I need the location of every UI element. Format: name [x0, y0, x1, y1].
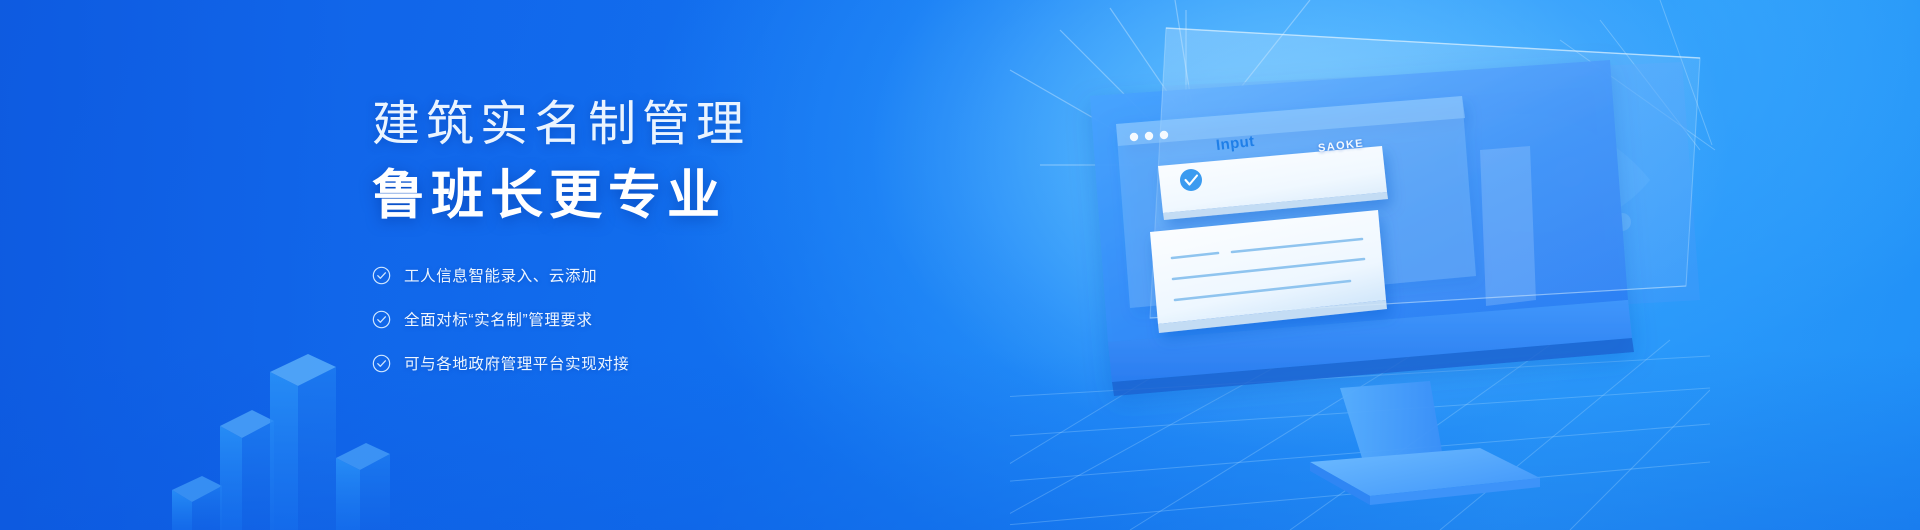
blob-decoration: [1458, 114, 1651, 233]
bottom-shadow-overlay: [0, 350, 1920, 530]
glass-edge-highlight: [1150, 28, 1700, 318]
headline-primary: 建筑实名制管理: [372, 96, 852, 155]
glass-panel-overlay: [1150, 28, 1700, 318]
list-item-label: 全面对标“实名制”管理要求: [404, 308, 593, 330]
list-item-label: 工人信息智能录入、云添加: [404, 264, 597, 286]
list-item-label: 可与各地政府管理平台实现对接: [404, 352, 629, 374]
list-item: 可与各地政府管理平台实现对接: [372, 349, 852, 377]
perspective-grid: [1010, 340, 1710, 530]
window-control-dots: [1130, 131, 1168, 141]
list-item: 工人信息智能录入、云添加: [372, 261, 852, 289]
ghost-card-echo: [1480, 146, 1536, 306]
monitor-illustration: [1010, 0, 1710, 530]
brand-label: SAOKE: [1317, 137, 1364, 154]
light-rays-decoration: [0, 0, 1920, 530]
document-lines-card: [1150, 210, 1387, 333]
banner-copy-block: 建筑实名制管理 鲁班长更专业 工人信息智能录入、云添加 全面对标“实名制”管理要…: [372, 96, 852, 377]
monitor-stand: [1310, 381, 1540, 505]
promo-banner: 建筑实名制管理 鲁班长更专业 工人信息智能录入、云添加 全面对标“实名制”管理要…: [0, 0, 1920, 530]
input-label: Input: [1215, 133, 1255, 154]
list-item: 全面对标“实名制”管理要求: [372, 305, 852, 333]
monitor-body: [1090, 60, 1634, 396]
browser-window-card: [1116, 96, 1476, 308]
document-line-group: [1172, 239, 1364, 300]
monitor-backplate: [1160, 62, 1700, 330]
feature-bullet-list: 工人信息智能录入、云添加 全面对标“实名制”管理要求 可与各地政府管理平台实现对…: [372, 261, 852, 377]
check-circle-icon: [372, 310, 391, 329]
headline-secondary: 鲁班长更专业: [372, 165, 852, 228]
check-circle-icon: [372, 354, 391, 373]
check-circle-icon: [372, 266, 391, 285]
input-field-card: [1158, 146, 1388, 220]
